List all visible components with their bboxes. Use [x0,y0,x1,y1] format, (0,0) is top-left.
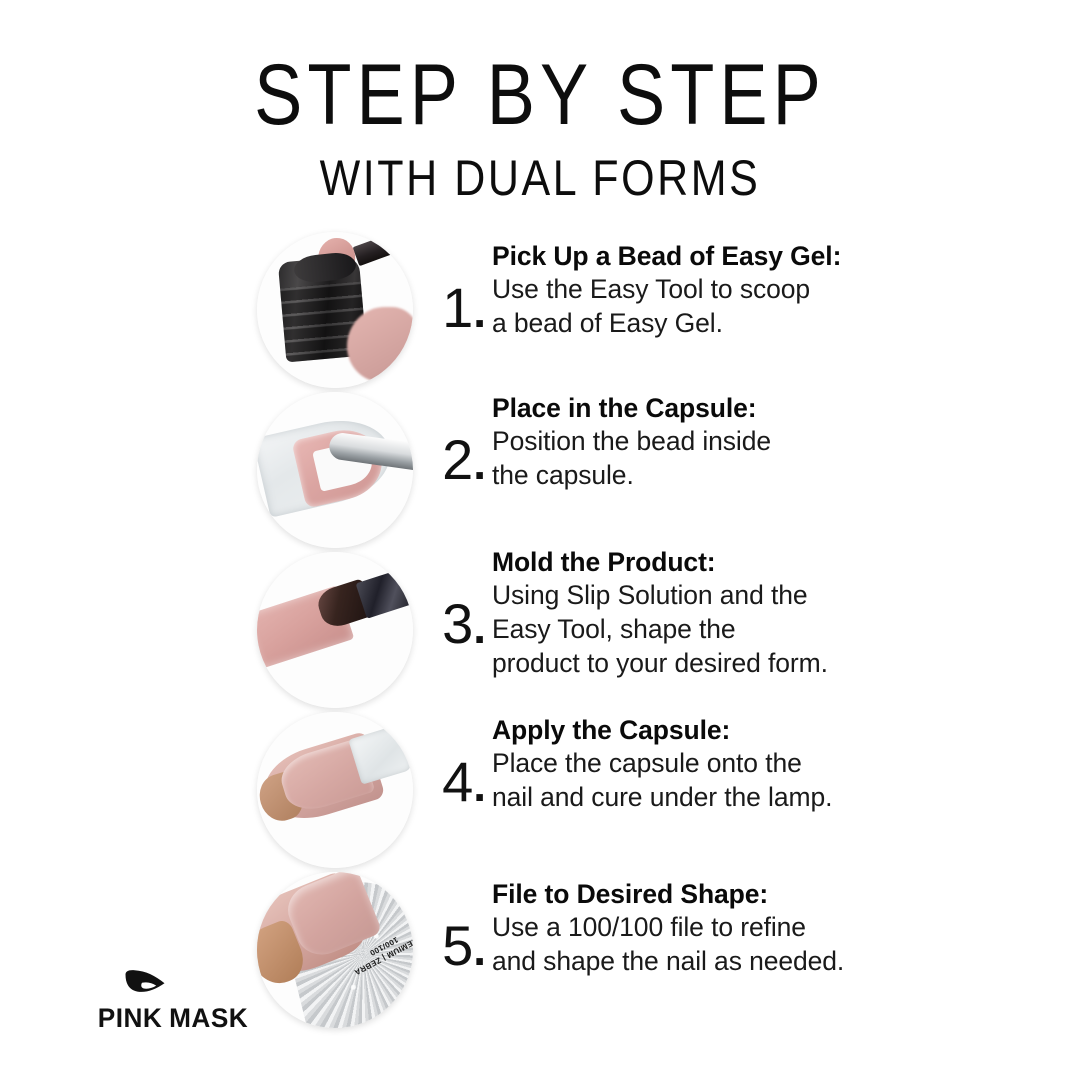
step-photo-3 [257,552,413,708]
step-body: Using Slip Solution and the Easy Tool, s… [492,579,972,681]
step-text-2: Place in the Capsule: Position the bead … [492,392,972,493]
step-number-3: 3. [432,596,486,652]
step-body: Use a 100/100 file to refine and shape t… [492,911,972,979]
step-body: Position the bead inside the capsule. [492,425,972,493]
step-body: Use the Easy Tool to scoop a bead of Eas… [492,273,972,341]
step-text-1: Pick Up a Bead of Easy Gel: Use the Easy… [492,240,972,341]
page-subtitle: WITH DUAL FORMS [76,152,1005,205]
poster-header: STEP BY STEP WITH DUAL FORMS [0,52,1080,204]
infographic-poster: STEP BY STEP WITH DUAL FORMS 1. Pick Up … [0,0,1080,1080]
step-number-2: 2. [432,432,486,488]
step-heading: Mold the Product: [492,546,972,578]
step-number-1: 1. [432,280,486,336]
step-number-5: 5. [432,918,486,974]
leaf-icon [122,969,166,999]
step-text-5: File to Desired Shape: Use a 100/100 fil… [492,878,972,979]
step-photo-5: PREMIUM | ZEBRA 100/100 [257,872,413,1028]
step-photo-4 [257,712,413,868]
step-text-4: Apply the Capsule: Place the capsule ont… [492,714,972,815]
step-photo-2 [257,392,413,548]
step-heading: Apply the Capsule: [492,714,972,746]
page-title: STEP BY STEP [86,52,993,140]
brand-logo-text: PINKMASK [81,1003,265,1034]
steps-list: 1. Pick Up a Bead of Easy Gel: Use the E… [0,232,1080,1032]
list-item: 3. Mold the Product: Using Slip Solution… [0,552,1080,712]
step-body: Place the capsule onto the nail and cure… [492,747,972,815]
list-item: 1. Pick Up a Bead of Easy Gel: Use the E… [0,232,1080,392]
finger-icon [347,307,413,382]
brand-logo: PINKMASK [78,969,268,1034]
list-item: 2. Place in the Capsule: Position the be… [0,392,1080,552]
step-heading: Place in the Capsule: [492,392,972,424]
brush-handle-icon [356,566,413,619]
step-photo-1 [257,232,413,388]
step-text-3: Mold the Product: Using Slip Solution an… [492,546,972,681]
easy-tool-icon [352,232,413,266]
step-heading: File to Desired Shape: [492,878,972,910]
step-number-4: 4. [432,754,486,810]
list-item: 4. Apply the Capsule: Place the capsule … [0,712,1080,872]
step-heading: Pick Up a Bead of Easy Gel: [492,240,972,272]
